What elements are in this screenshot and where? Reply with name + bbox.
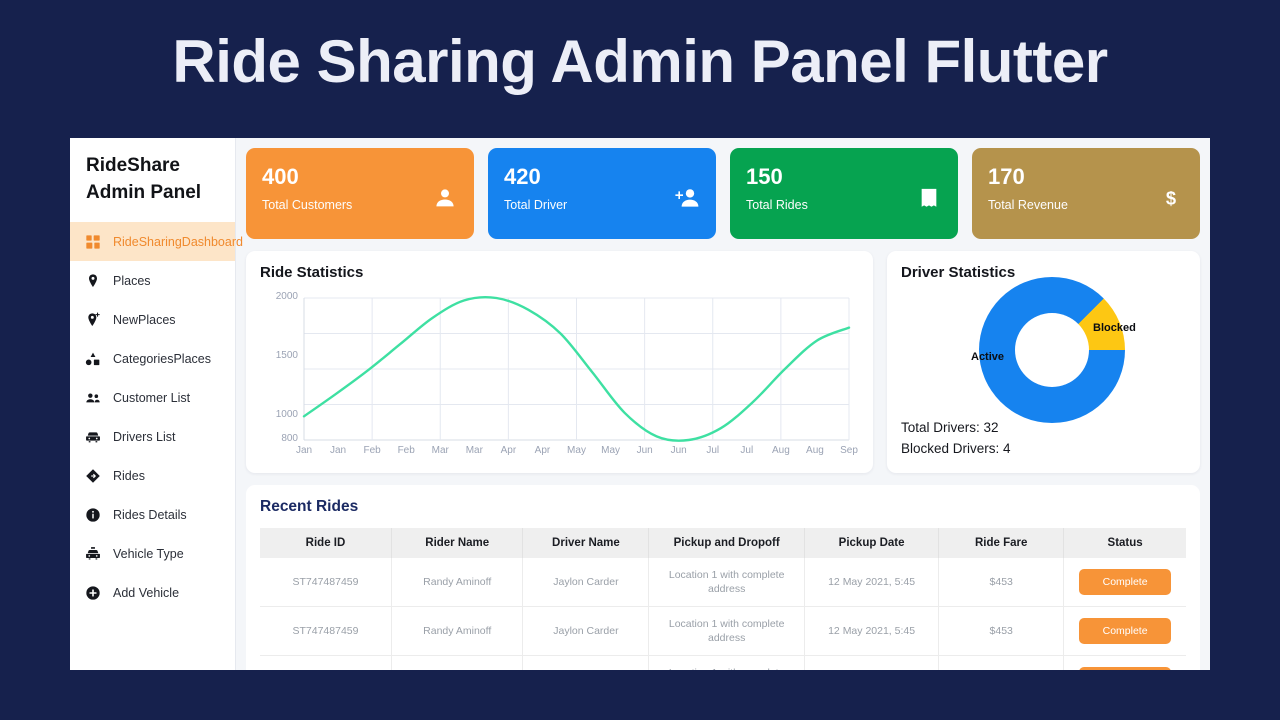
sidebar-item-label: Places — [113, 273, 151, 289]
table-row[interactable]: ST747487459Randy AminoffJaylon CarderLoc… — [260, 607, 1186, 656]
x-axis-tick: Jun — [663, 445, 695, 456]
x-axis-tick: Jul — [731, 445, 763, 456]
stat-value: 150 — [746, 164, 942, 189]
status-badge[interactable]: Complete — [1079, 667, 1171, 670]
stat-label: Total Revenue — [988, 198, 1184, 213]
stat-label: Total Rides — [746, 198, 942, 213]
stat-label: Total Customers — [262, 198, 458, 213]
table-body: ST747487459Randy AminoffJaylon CarderLoc… — [260, 558, 1186, 670]
recent-rides-table: Ride IDRider NameDriver NamePickup and D… — [260, 528, 1186, 670]
sidebar-item-label: Drivers List — [113, 429, 176, 445]
stat-card-total-driver[interactable]: 420Total Driver — [488, 148, 716, 239]
info-circle-icon — [84, 507, 102, 523]
x-axis-tick: Jan — [322, 445, 354, 456]
sidebar-item-drivers-list[interactable]: Drivers List — [70, 417, 235, 456]
page-root: Ride Sharing Admin Panel Flutter RideSha… — [0, 0, 1280, 720]
map-pin-plus-icon — [84, 312, 102, 328]
brand: RideShare Admin Panel — [70, 138, 235, 206]
person-icon — [432, 185, 458, 211]
brand-line-2: Admin Panel — [86, 179, 219, 206]
cell-ride-id: ST747487459 — [260, 607, 391, 656]
sidebar-item-ridesharingdashboard[interactable]: RideSharingDashboard — [70, 222, 235, 261]
column-header-ride-id[interactable]: Ride ID — [260, 528, 391, 558]
column-header-ride-fare[interactable]: Ride Fare — [939, 528, 1064, 558]
x-axis-tick: Apr — [492, 445, 524, 456]
dollar-icon: $ — [1158, 185, 1184, 211]
y-axis-tick: 1500 — [264, 350, 298, 361]
sidebar-nav: RideSharingDashboardPlacesNewPlacesCateg… — [70, 222, 235, 612]
cell-status: Complete — [1064, 656, 1186, 671]
sidebar-item-customer-list[interactable]: Customer List — [70, 378, 235, 417]
sidebar-item-label: RideSharingDashboard — [113, 234, 243, 250]
category-shapes-icon — [84, 351, 102, 367]
car-icon — [84, 429, 102, 445]
donut-label-blocked: Blocked — [1093, 322, 1136, 334]
sidebar-item-rides-details[interactable]: Rides Details — [70, 495, 235, 534]
cell-status: Complete — [1064, 607, 1186, 656]
cell-ride-fare: $453 — [939, 656, 1064, 671]
table-row[interactable]: ST747487459Randy AminoffJaylon CarderLoc… — [260, 656, 1186, 671]
stat-value: 170 — [988, 164, 1184, 189]
cell-ride-fare: $453 — [939, 558, 1064, 607]
stat-label: Total Driver — [504, 198, 700, 213]
y-axis-tick: 800 — [264, 433, 298, 444]
cell-driver-name: Jaylon Carder — [523, 656, 649, 671]
donut-hole — [1015, 313, 1089, 387]
sidebar-item-rides[interactable]: Rides — [70, 456, 235, 495]
stat-card-total-customers[interactable]: 400Total Customers — [246, 148, 474, 239]
driver-statistics-donut: Active Blocked — [979, 277, 1125, 423]
x-axis-tick: May — [561, 445, 593, 456]
plus-circle-icon — [84, 585, 102, 601]
sidebar-item-add-vehicle[interactable]: Add Vehicle — [70, 573, 235, 612]
sidebar-item-newplaces[interactable]: NewPlaces — [70, 300, 235, 339]
column-header-rider-name[interactable]: Rider Name — [391, 528, 522, 558]
recent-rides-title: Recent Rides — [260, 497, 1186, 517]
sidebar-item-places[interactable]: Places — [70, 261, 235, 300]
column-header-pickup-and-dropoff[interactable]: Pickup and Dropoff — [649, 528, 805, 558]
cell-ride-fare: $453 — [939, 607, 1064, 656]
x-axis-tick: Jan — [288, 445, 320, 456]
people-icon — [84, 390, 102, 406]
cell-rider-name: Randy Aminoff — [391, 558, 522, 607]
page-title: Ride Sharing Admin Panel Flutter — [0, 26, 1280, 98]
sidebar: RideShare Admin Panel RideSharingDashboa… — [70, 138, 236, 670]
driver-totals: Total Drivers: 32 Blocked Drivers: 4 — [901, 417, 1011, 459]
app-window: RideShare Admin Panel RideSharingDashboa… — [70, 138, 1210, 670]
stat-card-total-rides[interactable]: 150Total Rides — [730, 148, 958, 239]
person-add-icon — [674, 185, 700, 211]
sidebar-item-label: NewPlaces — [113, 312, 176, 328]
x-axis-tick: Apr — [526, 445, 558, 456]
sidebar-item-categoriesplaces[interactable]: CategoriesPlaces — [70, 339, 235, 378]
y-axis-tick: 1000 — [264, 409, 298, 420]
stat-card-total-revenue[interactable]: 170Total Revenue$ — [972, 148, 1200, 239]
donut-label-active: Active — [971, 351, 1004, 363]
x-axis-tick: Feb — [390, 445, 422, 456]
recent-rides-card: Recent Rides Ride IDRider NameDriver Nam… — [246, 485, 1200, 670]
x-axis-tick: Aug — [765, 445, 797, 456]
x-axis-tick: Sep — [833, 445, 865, 456]
x-axis-tick: Mar — [424, 445, 456, 456]
status-badge[interactable]: Complete — [1079, 569, 1171, 595]
sidebar-item-label: Rides Details — [113, 507, 187, 523]
total-drivers-text: Total Drivers: 32 — [901, 417, 1011, 438]
cell-pickup-dropoff: Location 1 with complete address — [649, 558, 805, 607]
receipt-icon — [916, 185, 942, 211]
status-badge[interactable]: Complete — [1079, 618, 1171, 644]
x-axis-tick: Feb — [356, 445, 388, 456]
sidebar-item-label: CategoriesPlaces — [113, 351, 211, 367]
blocked-drivers-text: Blocked Drivers: 4 — [901, 438, 1011, 459]
cell-driver-name: Jaylon Carder — [523, 558, 649, 607]
cell-ride-id: ST747487459 — [260, 656, 391, 671]
dashboard-grid-icon — [84, 234, 102, 250]
column-header-status[interactable]: Status — [1064, 528, 1186, 558]
cell-driver-name: Jaylon Carder — [523, 607, 649, 656]
stat-cards-row: 400Total Customers420Total Driver150Tota… — [246, 148, 1200, 239]
brand-line-1: RideShare — [86, 152, 219, 179]
cell-pickup-date: 12 May 2021 — [804, 656, 938, 671]
column-header-driver-name[interactable]: Driver Name — [523, 528, 649, 558]
cell-rider-name: Randy Aminoff — [391, 607, 522, 656]
cell-pickup-date: 12 May 2021, 5:45 — [804, 558, 938, 607]
charts-row: Ride Statistics 200015001000800JanJanFeb… — [246, 251, 1200, 473]
x-axis-tick: May — [595, 445, 627, 456]
x-axis-tick: Jul — [697, 445, 729, 456]
cell-ride-id: ST747487459 — [260, 558, 391, 607]
ride-statistics-card: Ride Statistics 200015001000800JanJanFeb… — [246, 251, 873, 473]
cell-status: Complete — [1064, 558, 1186, 607]
table-header-row: Ride IDRider NameDriver NamePickup and D… — [260, 528, 1186, 558]
ride-statistics-chart: 200015001000800JanJanFebFebMarMarAprAprM… — [260, 292, 859, 462]
route-diamond-icon — [84, 468, 102, 484]
column-header-pickup-date[interactable]: Pickup Date — [804, 528, 938, 558]
cell-pickup-dropoff: Location 1 with complete address — [649, 607, 805, 656]
cell-pickup-date: 12 May 2021, 5:45 — [804, 607, 938, 656]
sidebar-item-label: Customer List — [113, 390, 190, 406]
content-area: 400Total Customers420Total Driver150Tota… — [236, 138, 1210, 670]
ride-statistics-title: Ride Statistics — [260, 263, 859, 282]
svg-text:$: $ — [1166, 188, 1176, 209]
sidebar-item-label: Vehicle Type — [113, 546, 184, 562]
driver-statistics-card: Driver Statistics Active Blocked Total D… — [887, 251, 1200, 473]
cell-pickup-dropoff: Location 1 with complete address — [649, 656, 805, 671]
y-axis-tick: 2000 — [264, 291, 298, 302]
map-pin-icon — [84, 273, 102, 289]
x-axis-tick: Aug — [799, 445, 831, 456]
table-row[interactable]: ST747487459Randy AminoffJaylon CarderLoc… — [260, 558, 1186, 607]
taxi-icon — [84, 546, 102, 562]
cell-rider-name: Randy Aminoff — [391, 656, 522, 671]
x-axis-tick: Mar — [458, 445, 490, 456]
sidebar-item-vehicle-type[interactable]: Vehicle Type — [70, 534, 235, 573]
x-axis-tick: Jun — [629, 445, 661, 456]
stat-value: 420 — [504, 164, 700, 189]
sidebar-item-label: Add Vehicle — [113, 585, 179, 601]
sidebar-item-label: Rides — [113, 468, 145, 484]
stat-value: 400 — [262, 164, 458, 189]
